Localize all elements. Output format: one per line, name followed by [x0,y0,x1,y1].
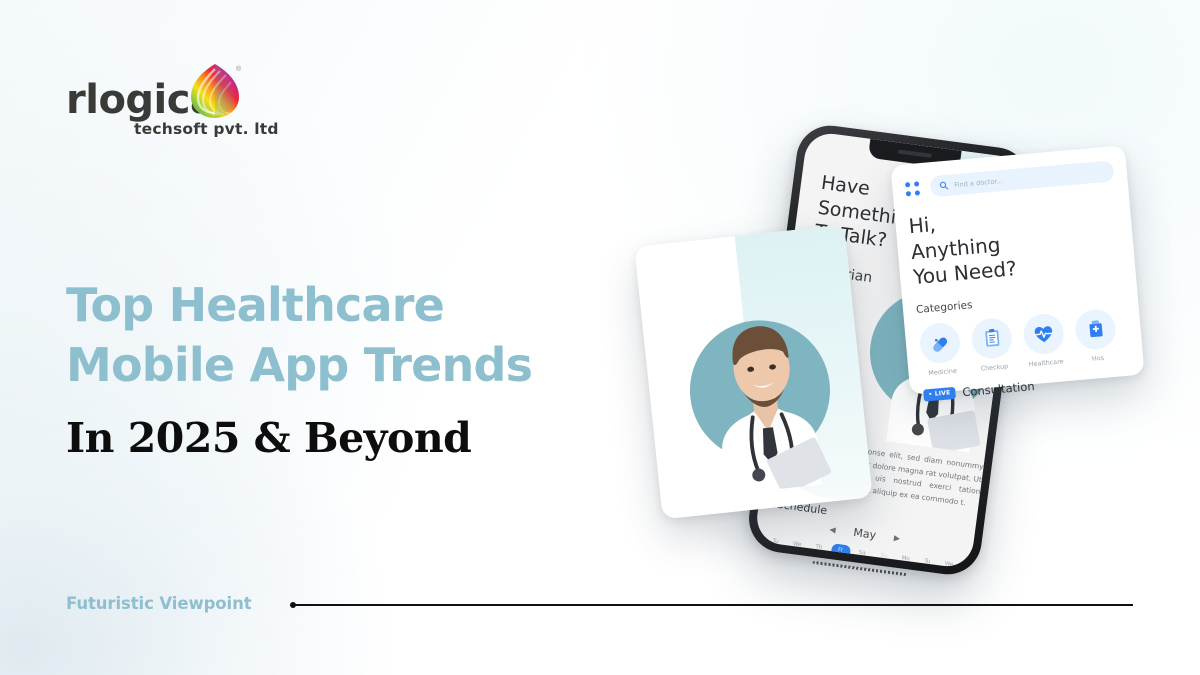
doctor-portrait-illustration [666,282,854,498]
app-greeting: Hi, Anything You Need? [908,196,1123,291]
category-label: Checkup [973,361,1016,373]
calendar-day-num: 13 [937,566,958,569]
calendar-day[interactable]: Su 10 [871,549,894,570]
clipboard-icon [970,317,1013,360]
calendar-month: May [853,526,877,542]
brand-logo[interactable]: rlogical techsoft pvt. ltd [66,62,306,137]
page-subtitle: In 2025 & Beyond [66,414,471,463]
calendar-day-num: 11 [894,561,915,570]
chevron-right-icon[interactable]: ▶ [893,533,900,543]
calendar-day-num: 6 [785,546,806,566]
calendar-day-num: 10 [872,558,893,570]
search-input[interactable]: Find a doctor... [929,160,1114,197]
brand-tagline: techsoft pvt. ltd [134,120,279,138]
footer-divider [295,604,1133,606]
calendar-day[interactable]: Mo 11 [893,552,916,570]
pill-icon [918,321,961,364]
footer-label: Futuristic Viewpoint [66,594,252,613]
categories-row: Medicine Checkup [917,306,1130,377]
calendar-day-num: 7 [807,549,828,569]
app-top-bar: Find a doctor... [905,160,1115,199]
calendar-day[interactable]: Tu 12 [915,555,938,570]
calendar-day[interactable]: We 6 [784,537,807,569]
phone-speaker-grille [812,561,908,577]
app-mockup-group: Have Something To Talk? Dr. Brian [620,110,1180,560]
calendar-day[interactable]: We 13 [936,557,959,569]
calendar-widget[interactable]: ◀ May ▶ Tu 5 We 6 T [759,514,966,569]
trademark-symbol: ® [236,66,241,73]
calendar-day[interactable]: Tu 5 [763,535,786,568]
live-badge: • LIVE [923,387,956,402]
category-label: Healthcare [1025,357,1068,369]
app-ui-card: Find a doctor... Hi, Anything You Need? … [890,145,1144,395]
page-title: Top Healthcare Mobile App Trends [66,276,532,396]
search-placeholder: Find a doctor... [954,176,1003,188]
category-label: Hos [1077,352,1120,364]
search-icon [939,181,949,191]
heart-pulse-icon [1022,312,1065,355]
hospital-icon [1074,308,1117,351]
doctor-card [634,225,872,520]
category-item-hospital[interactable]: Hos [1073,307,1119,363]
consultation-row[interactable]: • LIVE Consultation [923,370,1132,402]
grid-dots-icon[interactable] [905,181,920,196]
slide-canvas: rlogical techsoft pvt. ltd [0,0,1200,675]
category-item-checkup[interactable]: Checkup [969,317,1015,373]
chevron-left-icon[interactable]: ◀ [829,525,836,535]
category-item-healthcare[interactable]: Healthcare [1021,312,1067,368]
footer: Futuristic Viewpoint [66,594,1136,618]
calendar-day-num: 12 [915,564,936,570]
category-label: Medicine [921,366,964,378]
calendar-day-num: 5 [763,544,784,564]
category-item-medicine[interactable]: Medicine [917,321,963,377]
